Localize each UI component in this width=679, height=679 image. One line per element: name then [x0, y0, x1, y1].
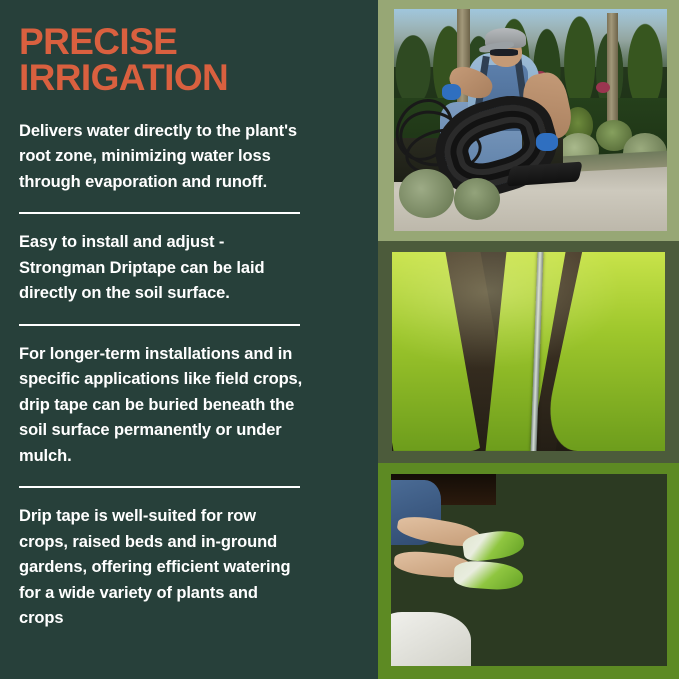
text-column: PRECISE IRRIGATION Delivers water direct… [0, 0, 378, 679]
photo-installer [394, 9, 667, 231]
feature-text-4: Drip tape is well-suited for row crops, … [19, 504, 306, 632]
shrub-a [399, 169, 454, 218]
feature-block-3: For longer-term installations and in spe… [19, 342, 306, 470]
yellow-flower-bed [551, 486, 667, 663]
shrub-b [454, 178, 500, 220]
feature-text-1: Delivers water directly to the plant's r… [19, 119, 306, 196]
sunlight-highlight [392, 252, 665, 451]
divider-3 [19, 486, 300, 488]
feature-text-2: Easy to install and adjust - Strongman D… [19, 230, 306, 307]
photo-mulching [391, 474, 667, 666]
divider-2 [19, 324, 300, 326]
feature-block-2: Easy to install and adjust - Strongman D… [19, 230, 306, 307]
mulch-bag [391, 612, 471, 666]
divider-1 [19, 212, 300, 214]
wooden-post-right [607, 13, 618, 128]
irrigation-infographic: PRECISE IRRIGATION Delivers water direct… [0, 0, 679, 679]
page-title: PRECISE IRRIGATION [19, 24, 306, 97]
glove-right [536, 133, 558, 151]
red-flower-b [596, 82, 610, 93]
feature-text-3: For longer-term installations and in spe… [19, 342, 306, 470]
glove-left [442, 84, 461, 100]
photo-frame-mulching [378, 463, 679, 679]
photo-frame-crop-rows [378, 241, 679, 463]
photo-frame-installer [378, 0, 679, 241]
photo-column [378, 0, 679, 679]
feature-block-4: Drip tape is well-suited for row crops, … [19, 504, 306, 632]
feature-block-1: Delivers water directly to the plant's r… [19, 119, 306, 196]
sunglasses [490, 49, 519, 56]
photo-crop-rows [392, 252, 665, 451]
